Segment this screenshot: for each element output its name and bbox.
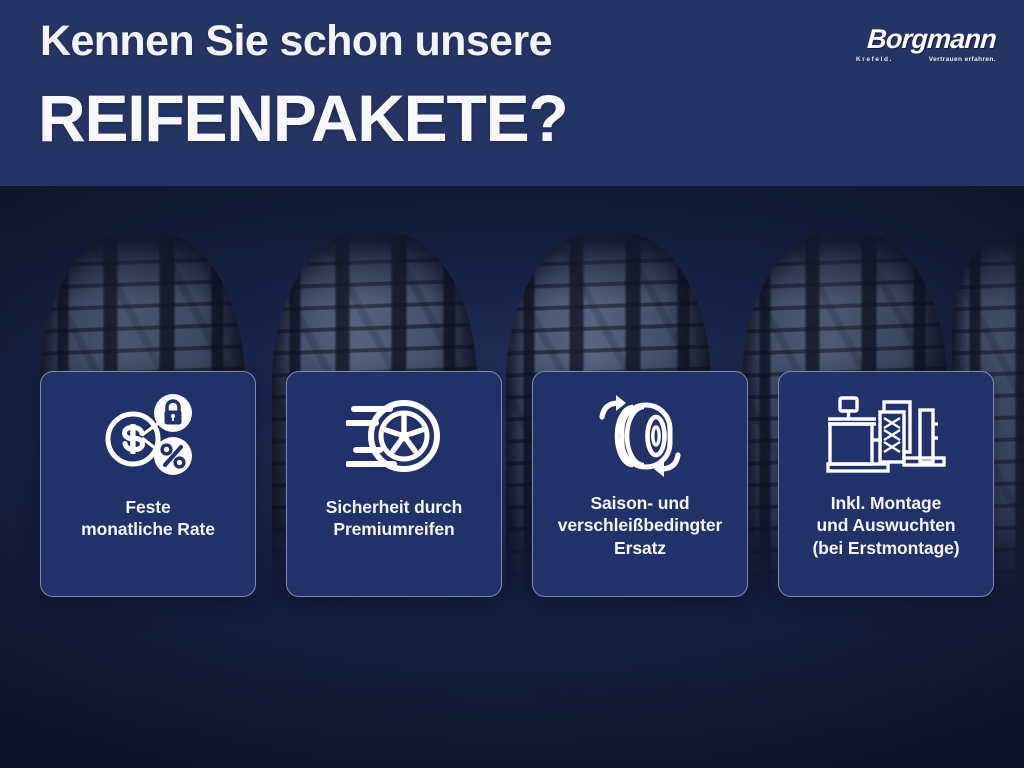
reifenpakete-poster: Kennen Sie schon unsere REIFENPAKETE? Bo… (0, 0, 1024, 768)
tire-swap-arrows-icon (592, 380, 688, 492)
feature-card-label: Sicherheit durch Premiumreifen (287, 492, 501, 596)
borgmann-logo: Borgmann Krefeld. Vertrauen erfahren. (856, 26, 996, 66)
feature-card-mounting-balancing[interactable]: Inkl. Montage und Auswuchten (bei Erstmo… (778, 371, 994, 597)
feature-card-fixed-rate[interactable]: Feste monatliche Rate (40, 371, 256, 597)
header-band: Kennen Sie schon unsere REIFENPAKETE? Bo… (0, 0, 1024, 186)
feature-card-label: Inkl. Montage und Auswuchten (bei Erstmo… (779, 492, 993, 596)
feature-card-row: Feste monatliche Rate (0, 371, 1024, 597)
feature-card-label: Saison- und verschleißbedingter Ersatz (533, 492, 747, 596)
logo-tagline-left: Krefeld. (856, 56, 893, 63)
coin-lock-percent-icon (102, 380, 194, 492)
feature-card-premium-safety[interactable]: Sicherheit durch Premiumreifen (286, 371, 502, 597)
logo-wordmark: Borgmann (855, 26, 997, 53)
logo-tagline-right: Vertrauen erfahren. (929, 56, 996, 63)
logo-tagline: Krefeld. Vertrauen erfahren. (856, 56, 996, 63)
headline-line-1: Kennen Sie schon unsere (40, 19, 552, 64)
feature-card-seasonal-replacement[interactable]: Saison- und verschleißbedingter Ersatz (532, 371, 748, 597)
tire-balancing-machine-icon (824, 380, 948, 492)
speeding-wheel-icon (346, 380, 442, 492)
feature-card-label: Feste monatliche Rate (41, 492, 255, 596)
headline-line-2: REIFENPAKETE? (38, 84, 568, 153)
